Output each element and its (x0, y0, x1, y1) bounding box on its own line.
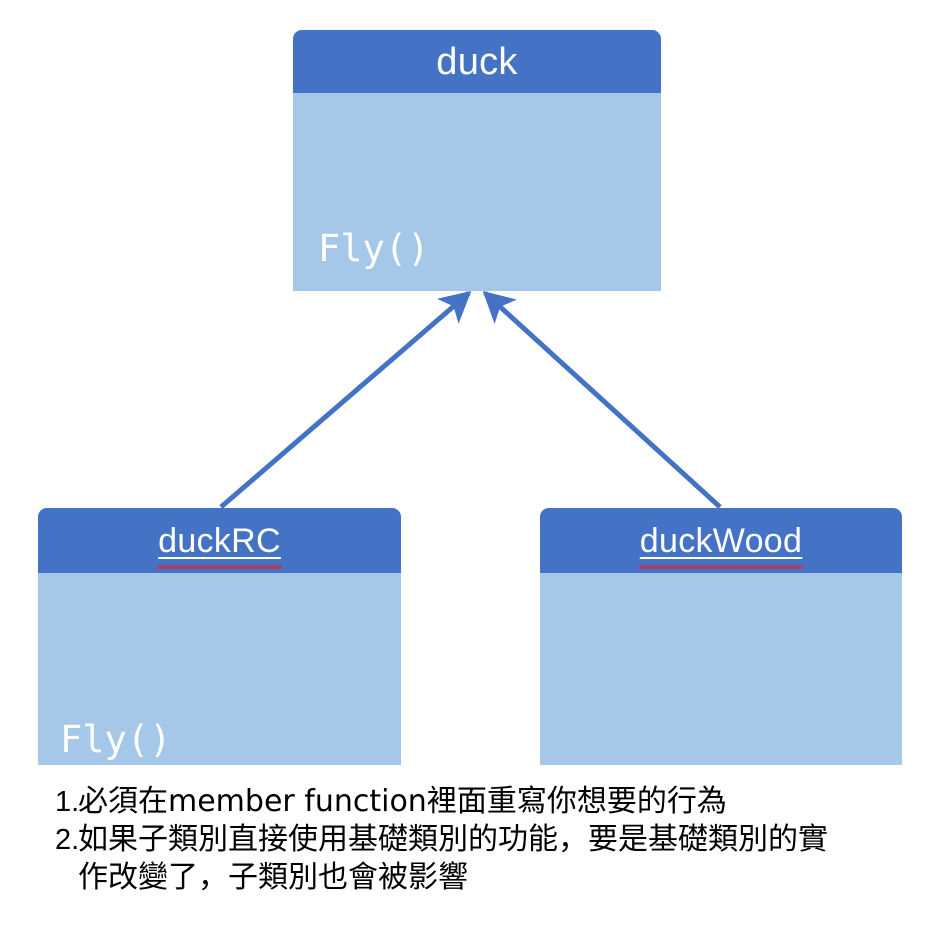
inheritance-arrow-duckwood (485, 293, 720, 507)
class-body-duckwood: Fly() (540, 573, 902, 765)
class-header-duck: duck (293, 30, 661, 93)
note-text-1: 必須在member function裡面重寫你想要的行為 (78, 783, 848, 821)
class-box-duck[interactable]: duck Fly() Sound() (293, 30, 661, 291)
note-item-2: 2. 如果子類別直接使用基礎類別的功能，要是基礎類別的實作改變了，子類別也會被影… (0, 821, 939, 897)
class-title-duck: duck (436, 43, 517, 81)
class-title-duckrc: duckRC (158, 524, 281, 558)
class-header-duckwood: duckWood (540, 508, 902, 573)
note-marker-2: 2. (0, 821, 78, 859)
note-marker-1: 1. (0, 783, 78, 821)
class-box-duckwood[interactable]: duckWood Fly() (540, 508, 902, 765)
inheritance-arrow-duckrc (221, 293, 469, 507)
notes-list: 1. 必須在member function裡面重寫你想要的行為 2. 如果子類別… (0, 783, 939, 897)
member-duckrc-fly: Fly() (60, 715, 401, 765)
note-item-1: 1. 必須在member function裡面重寫你想要的行為 (0, 783, 939, 821)
class-box-duckrc[interactable]: duckRC Fly() Sound() (38, 508, 401, 765)
class-header-duckrc: duckRC (38, 508, 401, 573)
uml-class-diagram: duck Fly() Sound() duckRC Fly() Sound() … (0, 0, 939, 940)
class-body-duckrc: Fly() Sound() (38, 573, 401, 765)
note-text-2: 如果子類別直接使用基礎類別的功能，要是基礎類別的實作改變了，子類別也會被影響 (78, 821, 848, 897)
member-duckwood-fly: Fly() (562, 758, 902, 765)
class-body-duck: Fly() Sound() (293, 93, 661, 291)
member-duck-fly: Fly() (318, 223, 661, 275)
class-title-duckwood: duckWood (640, 524, 802, 558)
